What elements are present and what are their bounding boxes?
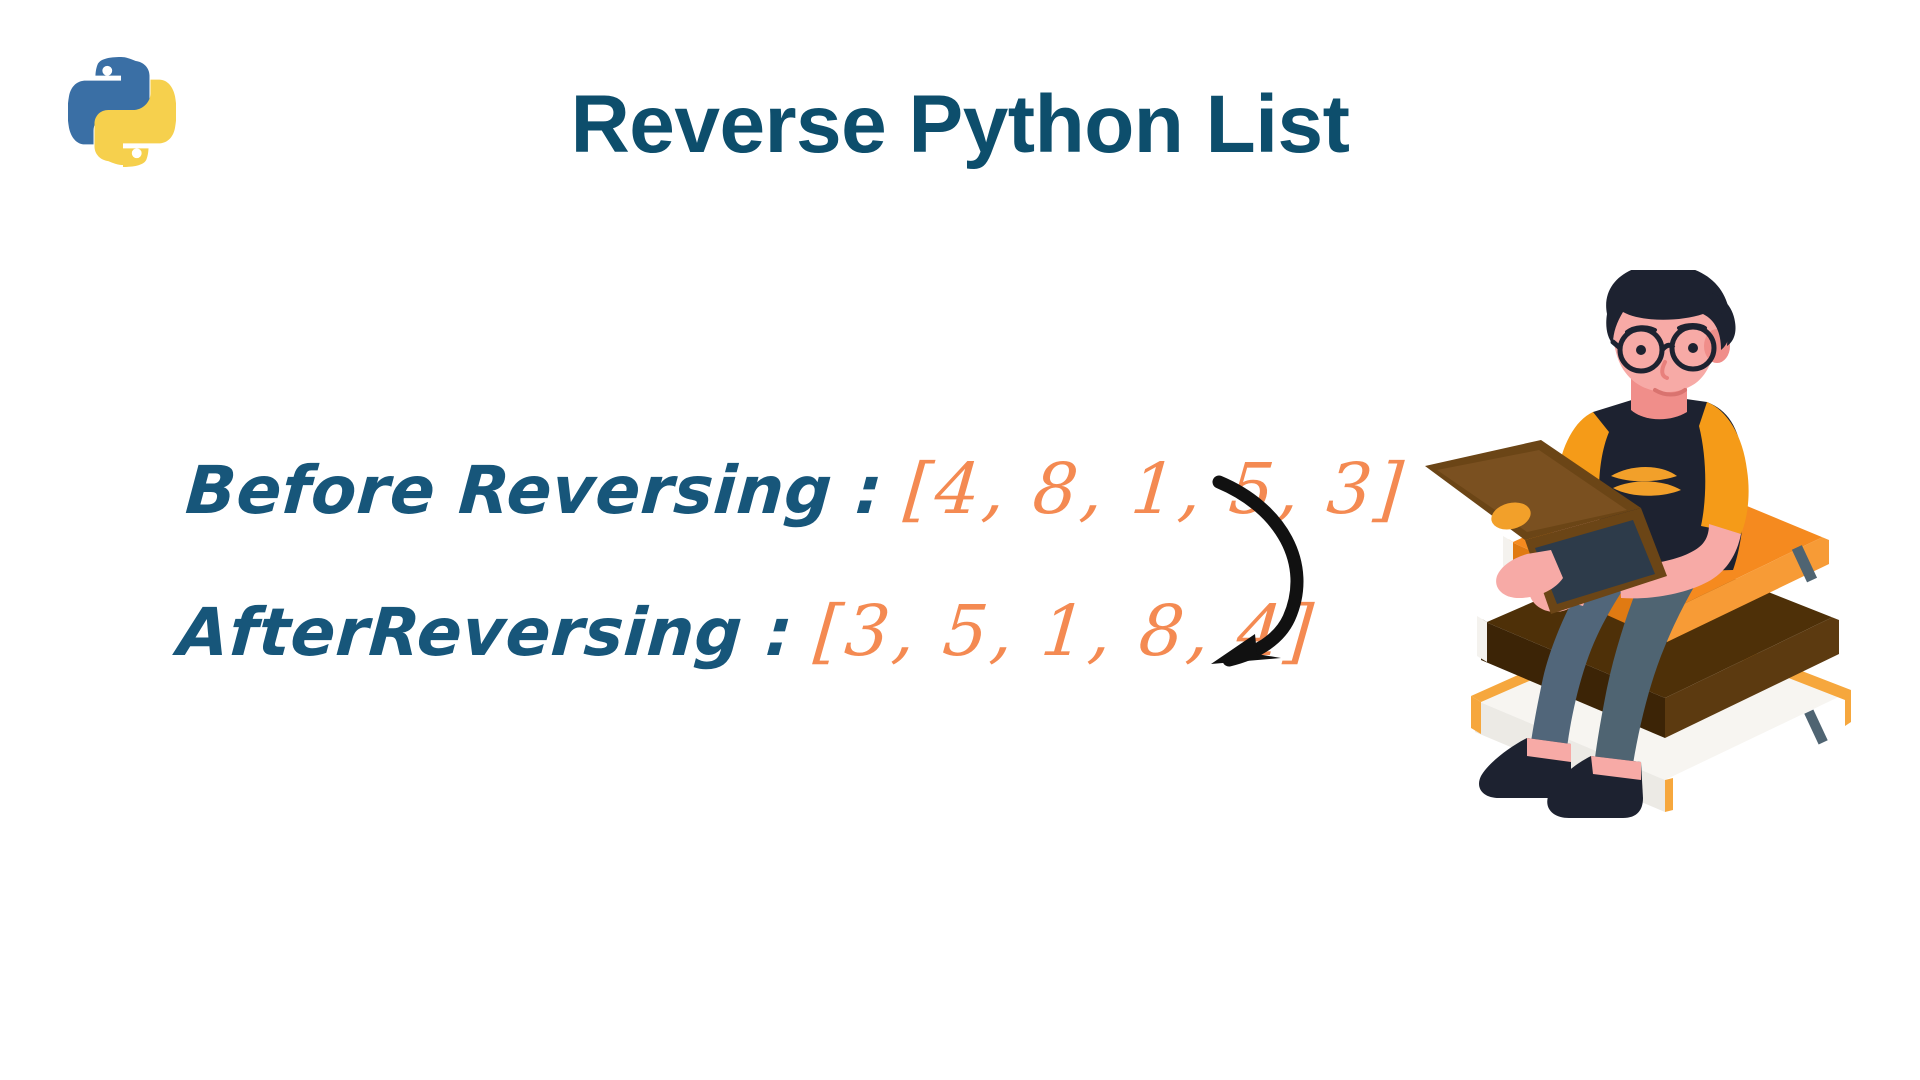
man-on-books-illustration <box>1415 270 1895 850</box>
after-reversing-label: AfterReversing : <box>175 594 795 671</box>
before-reversing-label: Before Reversing : <box>183 452 885 529</box>
after-reversing-row: AfterReversing : [3, 5, 1, 8, 4] <box>178 590 1315 672</box>
slide-canvas: Reverse Python List Before Reversing : [… <box>0 0 1920 1080</box>
page-title: Reverse Python List <box>0 78 1920 172</box>
curved-down-left-arrow-icon <box>1185 468 1375 678</box>
